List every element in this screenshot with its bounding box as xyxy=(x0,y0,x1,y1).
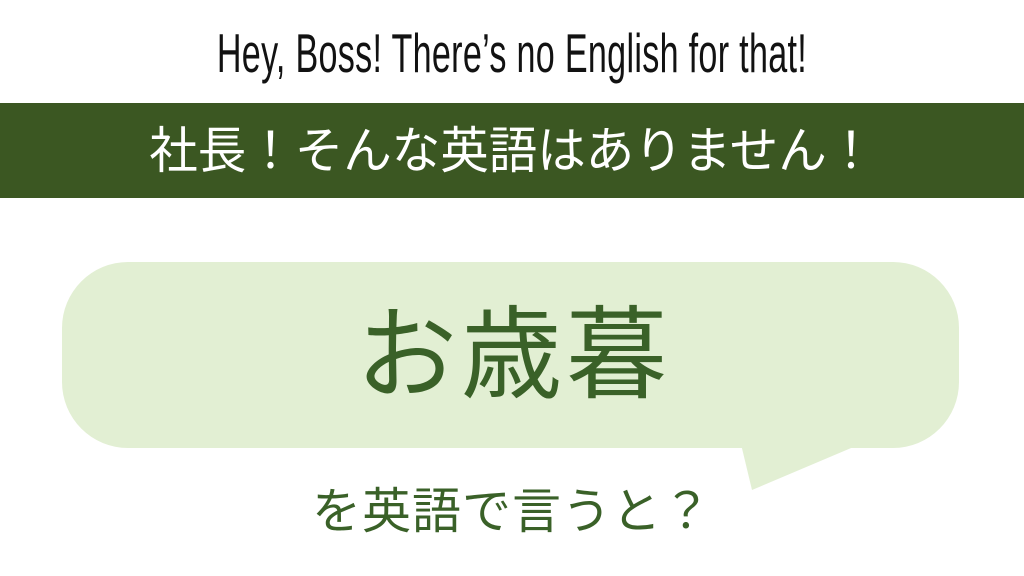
speech-bubble: お歳暮 xyxy=(62,262,959,448)
slide-canvas: Hey, Boss! There’s no English for that! … xyxy=(0,0,1024,576)
vocabulary-word: お歳暮 xyxy=(350,305,671,406)
caption-container: を英語で言うと？ xyxy=(0,478,1024,544)
headline-container: Hey, Boss! There’s no English for that! xyxy=(0,0,1024,103)
subtitle-banner: 社長！そんな英語はありません！ xyxy=(0,103,1024,198)
page-title: Hey, Boss! There’s no English for that! xyxy=(217,22,807,81)
caption-text: を英語で言うと？ xyxy=(312,487,712,536)
subtitle-text: 社長！そんな英語はありません！ xyxy=(149,126,875,176)
